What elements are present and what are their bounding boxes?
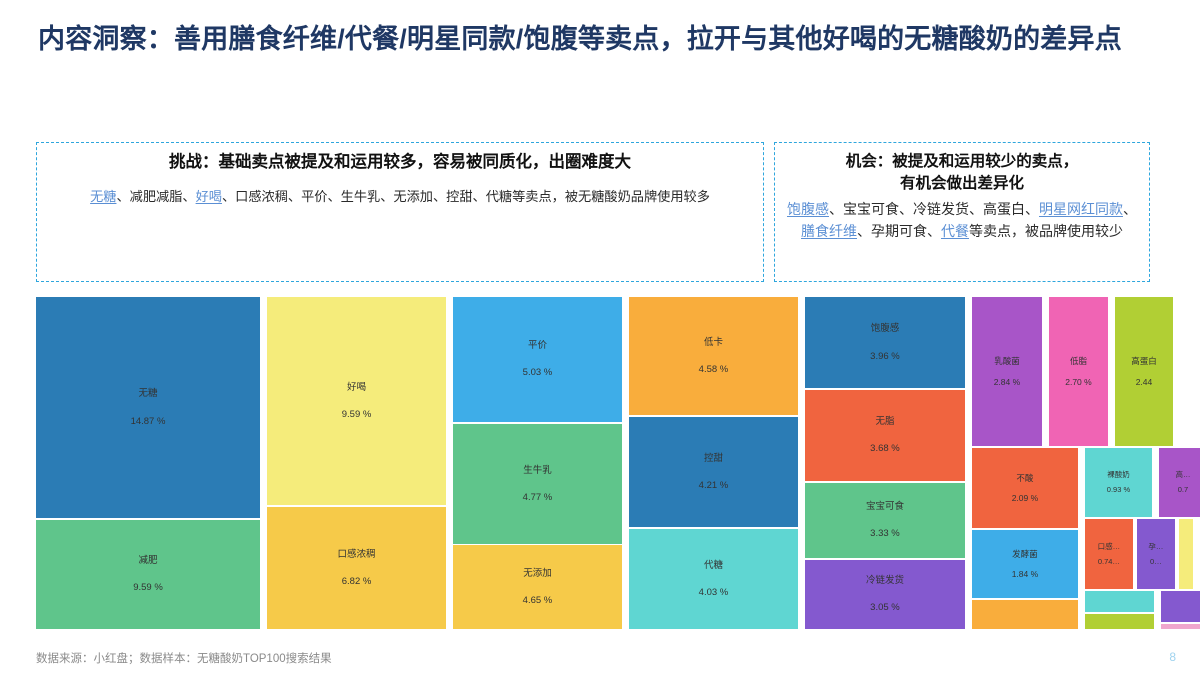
treemap-tile-label: 孕… — [1148, 542, 1163, 551]
treemap-tile[interactable]: 代糖4.03 % — [629, 529, 798, 629]
treemap-tile-value: 2.84 % — [994, 377, 1020, 387]
opportunity-heading-line2: 有机会做出差异化 — [785, 173, 1139, 195]
treemap-tile[interactable] — [1085, 591, 1154, 612]
highlighted-keyword: 明星网红同款 — [1039, 201, 1123, 217]
challenge-body: 无糖、减肥减脂、好喝、口感浓稠、平价、生牛乳、无添加、控甜、代糖等卖点，被无糖酸… — [47, 186, 753, 207]
treemap-tile-label: 发酵菌 — [1012, 549, 1038, 559]
treemap-chart: 无糖14.87 %减肥9.59 %好喝9.59 %口感浓稠6.82 %平价5.0… — [36, 297, 1150, 629]
treemap-tile[interactable]: 平价5.03 % — [453, 297, 622, 422]
treemap-tile-label: 低脂 — [1070, 356, 1087, 366]
treemap-tile[interactable]: 减肥9.59 % — [36, 520, 260, 629]
treemap-tile-label: 控甜 — [704, 453, 723, 464]
body-text-run: 、口感浓稠、平价、生牛乳、无添加、控甜、代糖等卖点，被无糖酸奶品牌使用较多 — [222, 189, 710, 204]
treemap-tile[interactable]: 口感浓稠6.82 % — [267, 507, 446, 629]
treemap-tile-value: 9.59 % — [342, 409, 372, 420]
treemap-tile[interactable]: 饱腹感3.96 % — [805, 297, 965, 388]
treemap-tile-label: 乳酸菌 — [994, 356, 1020, 366]
treemap-tile-value: 14.87 % — [131, 416, 166, 427]
highlighted-keyword: 好喝 — [196, 189, 222, 204]
treemap-tile-label: 平价 — [528, 340, 547, 351]
treemap-tile[interactable]: 乳酸菌2.84 % — [972, 297, 1042, 446]
treemap-tile-value: 5.03 % — [523, 367, 553, 378]
treemap-tile-value: 3.33 % — [870, 528, 900, 539]
treemap-tile-label: 冷链发货 — [866, 575, 904, 586]
treemap-tile-label: 饱腹感 — [871, 323, 900, 334]
treemap-tile[interactable]: 低脂2.70 % — [1049, 297, 1108, 446]
treemap-tile[interactable]: 高…0.7 — [1159, 448, 1200, 517]
treemap-tile-value: 9.59 % — [133, 582, 163, 593]
slide: 内容洞察：善用膳食纤维/代餐/明星同款/饱腹等卖点，拉开与其他好喝的无糖酸奶的差… — [0, 0, 1200, 675]
treemap-tile[interactable]: 生牛乳4.77 % — [453, 424, 622, 544]
treemap-tile-label: 代糖 — [704, 560, 723, 571]
treemap-tile-label: 高… — [1175, 470, 1190, 479]
treemap-tile[interactable] — [1161, 591, 1200, 622]
treemap-tile-label: 高蛋白 — [1131, 356, 1157, 366]
treemap-tile-value: 0.7 — [1178, 485, 1188, 494]
treemap-tile[interactable]: 无糖14.87 % — [36, 297, 260, 518]
treemap-tile-label: 无添加 — [523, 568, 552, 579]
treemap-tile[interactable]: 低卡4.58 % — [629, 297, 798, 415]
treemap-tile-label: 好喝 — [347, 382, 366, 393]
treemap-tile[interactable]: 裸酸奶0.93 % — [1085, 448, 1152, 517]
opportunity-body: 饱腹感、宝宝可食、冷链发货、高蛋白、明星网红同款、膳食纤维、孕期可食、代餐等卖点… — [785, 199, 1139, 242]
challenge-heading: 挑战：基础卖点被提及和运用较多，容易被同质化，出圈难度大 — [47, 151, 753, 174]
treemap-tile[interactable]: 好喝9.59 % — [267, 297, 446, 505]
treemap-tile[interactable]: 无脂3.68 % — [805, 390, 965, 481]
body-text-run: 等卖点，被品牌使用较少 — [969, 223, 1123, 239]
treemap-tile-value: 0… — [1150, 557, 1162, 566]
insight-boxes: 挑战：基础卖点被提及和运用较多，容易被同质化，出圈难度大 无糖、减肥减脂、好喝、… — [36, 142, 1150, 282]
treemap-tile-value: 3.96 % — [870, 351, 900, 362]
treemap-tile-label: 口感… — [1098, 542, 1121, 551]
challenge-box: 挑战：基础卖点被提及和运用较多，容易被同质化，出圈难度大 无糖、减肥减脂、好喝、… — [36, 142, 764, 282]
highlighted-keyword: 膳食纤维 — [801, 223, 857, 239]
treemap-tile[interactable] — [972, 600, 1078, 629]
treemap-tile-label: 裸酸奶 — [1107, 470, 1130, 479]
treemap-tile-value: 0.74… — [1098, 557, 1120, 566]
highlighted-keyword: 无糖 — [90, 189, 116, 204]
treemap-tile-value: 3.05 % — [870, 602, 900, 613]
treemap-tile-value: 0.93 % — [1107, 485, 1130, 494]
treemap-tile-label: 宝宝可食 — [866, 501, 904, 512]
highlighted-keyword: 饱腹感 — [787, 201, 829, 217]
treemap-tile[interactable]: 孕…0… — [1137, 519, 1175, 589]
page-number: 8 — [1169, 650, 1176, 664]
treemap-tile[interactable] — [1161, 624, 1200, 629]
treemap-tile[interactable]: 口感…0.74… — [1085, 519, 1133, 589]
treemap-tile[interactable] — [1179, 519, 1193, 589]
treemap-tile-value: 4.21 % — [699, 480, 729, 491]
treemap-tile-value: 1.84 % — [1012, 569, 1038, 579]
treemap-tile-value: 4.65 % — [523, 595, 553, 606]
treemap-tile-label: 减肥 — [139, 555, 158, 566]
treemap-tile-label: 低卡 — [704, 337, 723, 348]
treemap-tile-label: 口感浓稠 — [338, 549, 376, 560]
treemap-tile[interactable] — [1085, 614, 1154, 629]
treemap-tile-value: 4.58 % — [699, 364, 729, 375]
treemap-tile-value: 3.68 % — [870, 443, 900, 454]
treemap-tile-label: 不酸 — [1016, 473, 1033, 483]
treemap-tile-value: 2.70 % — [1065, 377, 1091, 387]
treemap-tile[interactable]: 控甜4.21 % — [629, 417, 798, 527]
body-text-run: 、宝宝可食、冷链发货、高蛋白、 — [829, 201, 1039, 217]
treemap-tile-label: 无脂 — [875, 416, 894, 427]
treemap-tile[interactable]: 冷链发货3.05 % — [805, 560, 965, 629]
treemap-tile[interactable]: 高蛋白2.44 — [1115, 297, 1173, 446]
footer-source: 数据来源：小红盘；数据样本：无糖酸奶TOP100搜索结果 — [36, 650, 332, 666]
treemap-tile[interactable]: 无添加4.65 % — [453, 545, 622, 629]
treemap-tile-value: 4.77 % — [523, 492, 553, 503]
highlighted-keyword: 代餐 — [941, 223, 969, 239]
opportunity-box: 机会：被提及和运用较少的卖点， 有机会做出差异化 饱腹感、宝宝可食、冷链发货、高… — [774, 142, 1150, 282]
body-text-run: 、 — [1123, 201, 1137, 217]
treemap-tile[interactable]: 发酵菌1.84 % — [972, 530, 1078, 598]
treemap-tile-value: 4.03 % — [699, 587, 729, 598]
treemap-tile-value: 2.44 — [1136, 377, 1153, 387]
treemap-tile-value: 6.82 % — [342, 576, 372, 587]
opportunity-heading: 机会：被提及和运用较少的卖点， 有机会做出差异化 — [785, 151, 1139, 195]
page-title: 内容洞察：善用膳食纤维/代餐/明星同款/饱腹等卖点，拉开与其他好喝的无糖酸奶的差… — [38, 22, 1168, 58]
treemap-tile-label: 无糖 — [139, 388, 158, 399]
opportunity-heading-line1: 机会：被提及和运用较少的卖点， — [785, 151, 1139, 173]
treemap-tile-label: 生牛乳 — [523, 465, 552, 476]
treemap-tile-value: 2.09 % — [1012, 493, 1038, 503]
body-text-run: 、孕期可食、 — [857, 223, 941, 239]
body-text-run: 、减肥减脂、 — [116, 189, 195, 204]
treemap-tile[interactable]: 不酸2.09 % — [972, 448, 1078, 528]
treemap-tile[interactable]: 宝宝可食3.33 % — [805, 483, 965, 558]
